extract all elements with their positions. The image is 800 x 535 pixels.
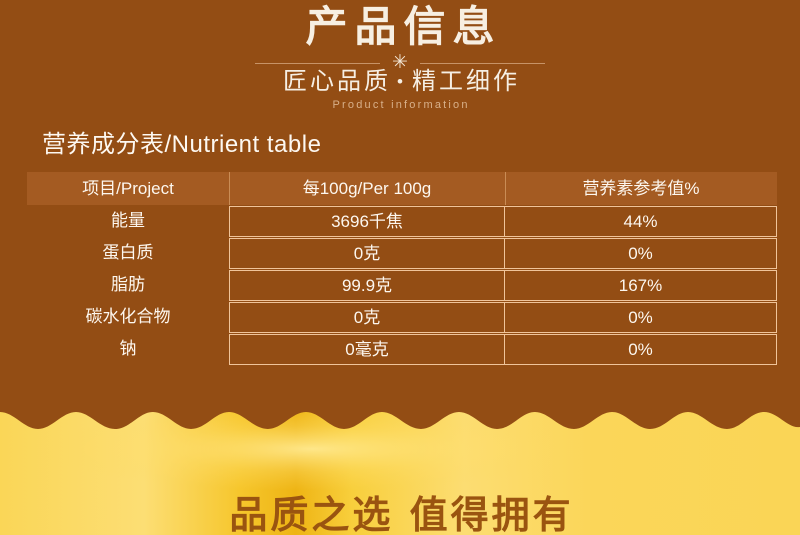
nutrient-table-heading: 营养成分表/Nutrient table xyxy=(42,128,321,162)
cell-per-100g: 0毫克 xyxy=(229,334,505,365)
gold-footer: 品质之选 值得拥有 xyxy=(0,404,800,535)
page-title: 产品信息 xyxy=(0,2,800,52)
table-row: 碳水化合物 0克 0% xyxy=(27,302,777,333)
cell-project: 钠 xyxy=(27,334,229,365)
cell-nrv: 0% xyxy=(505,238,777,269)
cell-nrv: 44% xyxy=(505,206,777,237)
hero-subtitle: 匠心品质•精工细作 xyxy=(0,66,800,98)
cell-nrv: 0% xyxy=(505,334,777,365)
hero-subtitle-right: 精工细作 xyxy=(412,68,520,95)
cell-per-100g: 0克 xyxy=(229,238,505,269)
cell-project: 蛋白质 xyxy=(27,238,229,269)
cell-project: 脂肪 xyxy=(27,270,229,301)
table-row: 蛋白质 0克 0% xyxy=(27,238,777,269)
cell-per-100g: 99.9克 xyxy=(229,270,505,301)
cell-per-100g: 0克 xyxy=(229,302,505,333)
column-header-nrv: 营养素参考值% xyxy=(505,172,777,205)
table-row: 能量 3696千焦 44% xyxy=(27,206,777,237)
cell-project: 碳水化合物 xyxy=(27,302,229,333)
cell-nrv: 0% xyxy=(505,302,777,333)
divider-line-right xyxy=(420,63,545,64)
table-row: 脂肪 99.9克 167% xyxy=(27,270,777,301)
cell-project: 能量 xyxy=(27,206,229,237)
cell-nrv: 167% xyxy=(505,270,777,301)
divider-line-left xyxy=(255,63,380,64)
product-info-page: 产品信息 ✳ 匠心品质•精工细作 Product information 营养成… xyxy=(0,0,800,535)
cell-per-100g: 3696千焦 xyxy=(229,206,505,237)
column-header-per-100g: 每100g/Per 100g xyxy=(229,172,505,205)
hero-banner: 产品信息 ✳ 匠心品质•精工细作 Product information xyxy=(0,0,800,120)
table-header-row: 项目/Project 每100g/Per 100g 营养素参考值% xyxy=(27,172,777,205)
hero-subtitle-dot: • xyxy=(391,72,412,91)
nutrient-table: 项目/Project 每100g/Per 100g 营养素参考值% 能量 369… xyxy=(27,172,777,365)
footer-slogan: 品质之选 值得拥有 xyxy=(0,492,800,535)
table-row: 钠 0毫克 0% xyxy=(27,334,777,365)
column-header-project: 项目/Project xyxy=(27,172,229,205)
hero-subtitle-left: 匠心品质 xyxy=(283,68,391,95)
hero-english-caption: Product information xyxy=(0,98,800,112)
